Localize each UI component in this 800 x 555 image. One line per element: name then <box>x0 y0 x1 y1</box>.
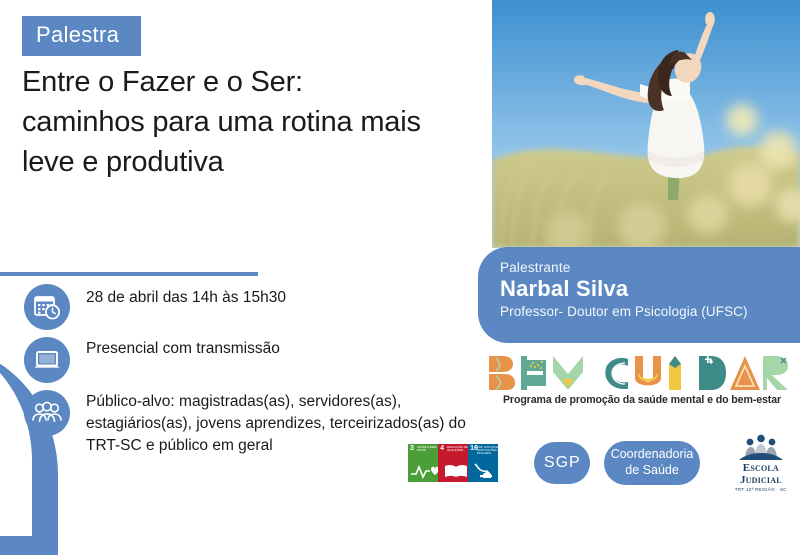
brand-letter-I <box>665 354 695 392</box>
brand-letter-D <box>697 354 727 392</box>
sdg-number-3: 3 <box>410 445 414 452</box>
hero-photo <box>492 0 800 248</box>
brand-letter-M <box>551 354 581 392</box>
bem-cuidar-logo: Programa de promoção da saúde mental e d… <box>487 352 797 406</box>
coordenadoria-saude-logo: Coordenadoria de Saúde <box>604 441 699 485</box>
sdg-label-16: PAZ, JUSTIÇA E INSTITUIÇÕES EFICAZES <box>477 446 501 456</box>
escola-judicial-logo: Escola Judicial TRT 12ª REGIÃO · SC <box>722 434 800 492</box>
brand-letter-U <box>633 354 663 392</box>
left-content-column: Palestra Entre o Fazer e o Ser: caminhos… <box>0 0 500 496</box>
detail-row-format: Presencial com transmissão <box>0 337 470 383</box>
calendar-clock-icon <box>24 284 70 330</box>
event-details-list: 28 de abril das 14h às 15h30 Presencial … <box>0 284 470 464</box>
escola-judicial-mark <box>731 434 791 462</box>
partner-logos-strip: 3 SAÚDE E BEM-ESTAR 4 EDUCAÇÃO DE QUALID… <box>408 432 800 494</box>
sdg-number-4: 4 <box>440 445 444 452</box>
brand-letter-R <box>761 354 791 392</box>
brand-letter-E <box>519 354 549 392</box>
speaker-title: Professor- Doutor em Psicologia (UFSC) <box>500 304 800 319</box>
sdg-icons-group: 3 SAÚDE E BEM-ESTAR 4 EDUCAÇÃO DE QUALID… <box>408 444 498 482</box>
speaker-role-label: Palestrante <box>500 260 800 275</box>
escola-judicial-name: Escola Judicial <box>722 462 800 486</box>
speaker-card: Palestrante Narbal Silva Professor- Dout… <box>478 247 800 343</box>
sdg-icon-4: 4 EDUCAÇÃO DE QUALIDADE <box>438 444 468 482</box>
sgp-logo: SGP <box>534 442 590 484</box>
detail-text-format: Presencial com transmissão <box>86 337 280 360</box>
section-divider <box>0 272 258 276</box>
people-group-icon <box>24 390 70 436</box>
hero-photo-illustration <box>492 0 800 248</box>
brand-letter-C <box>601 354 631 392</box>
bem-cuidar-tagline: Programa de promoção da saúde mental e d… <box>487 394 797 406</box>
sdg-icon-3: 3 SAÚDE E BEM-ESTAR <box>408 444 438 482</box>
laptop-icon <box>24 337 70 383</box>
brand-letter-B <box>487 354 517 392</box>
escola-judicial-subtitle: TRT 12ª REGIÃO · SC <box>722 487 800 492</box>
sdg-icon-16: 16 PAZ, JUSTIÇA E INSTITUIÇÕES EFICAZES <box>468 444 498 482</box>
detail-text-date: 28 de abril das 14h às 15h30 <box>86 284 286 309</box>
palestra-badge: Palestra <box>22 16 141 56</box>
speaker-name: Narbal Silva <box>500 276 800 302</box>
brand-letter-A <box>729 354 759 392</box>
detail-row-date: 28 de abril das 14h às 15h30 <box>0 284 470 330</box>
page-title: Entre o Fazer e o Ser: caminhos para uma… <box>22 62 422 182</box>
detail-row-audience: Público-alvo: magistradas(as), servidore… <box>0 390 470 457</box>
bem-cuidar-letters <box>487 352 797 392</box>
